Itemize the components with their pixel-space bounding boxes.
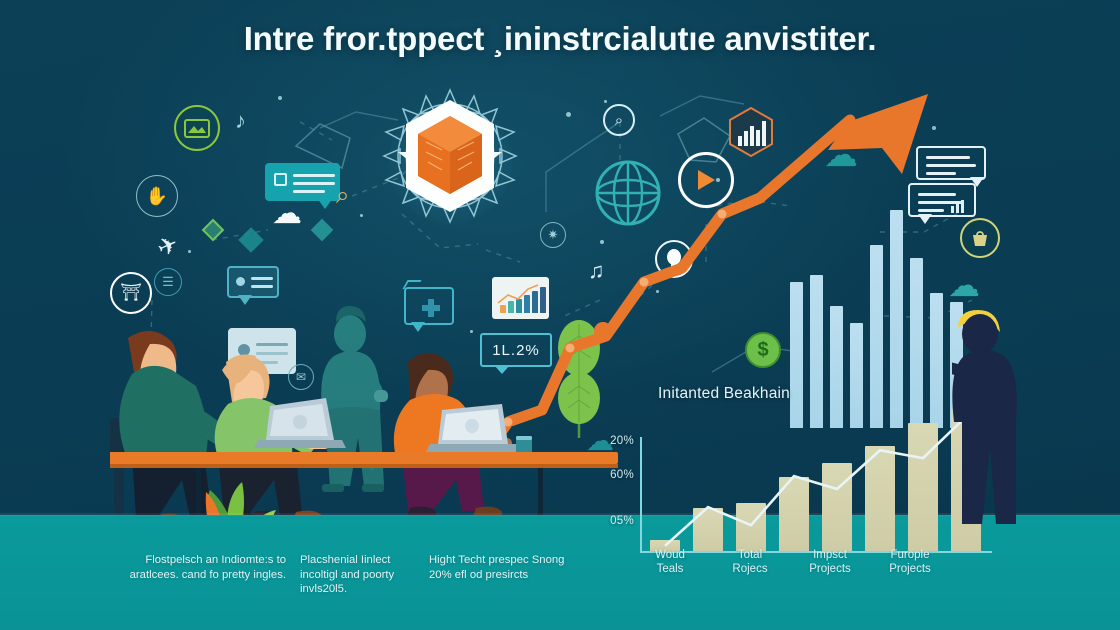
cloud-icon: ☁ <box>272 196 302 231</box>
infographic-canvas: Intre fror.tppect ¸ininstrcialutıe anvis… <box>0 0 1120 630</box>
category-label-line2: Projects <box>790 562 870 576</box>
y-tick-2: 05% <box>610 515 634 527</box>
standing-presenter-dark <box>952 306 1072 536</box>
zigzag-trend-line <box>640 405 1000 555</box>
search-icon: ⌕ <box>336 182 349 210</box>
caption-3: Hight Techt prespec Snong 20% efl od pre… <box>429 553 569 597</box>
caption-1: Flostpelsch an Indiomte:s to aratlcees. … <box>110 553 286 597</box>
inner-khaki-bar-chart: Initanted Beakhain 20% 60% 05% <box>600 385 1000 563</box>
music-note-icon: ♪ <box>235 108 246 134</box>
category-label: Total Rojecs <box>710 548 790 576</box>
category-label: Impsct Projects <box>790 548 870 576</box>
caption-2: Placshenial Iinlect incoltigl and poorty… <box>300 553 415 597</box>
category-label-line2: Projects <box>870 562 950 576</box>
category-label-line1: Furople <box>870 548 950 562</box>
image-folder-icon <box>174 105 220 151</box>
y-tick-1: 60% <box>610 469 634 481</box>
headline-title: Intre fror.tppect ¸ininstrcialutıe anvis… <box>0 20 1120 58</box>
category-label-line1: Impsct <box>790 548 870 562</box>
hand-gesture-icon: ✋ <box>136 175 178 217</box>
chat-bubble-outline-avatar <box>227 266 279 298</box>
category-label-line1: Woud <box>630 548 710 562</box>
panel-title: Initanted Beakhain <box>658 385 790 403</box>
category-label: Woud Teals <box>630 548 710 576</box>
y-tick-2-wrap: 05% <box>590 511 634 529</box>
category-label-line2: Rojecs <box>710 562 790 576</box>
y-tick-0: 20% <box>610 435 634 447</box>
category-label-line1: Total <box>710 548 790 562</box>
category-label: Furople Projects <box>870 548 950 576</box>
database-icon: ☰ <box>154 268 182 296</box>
category-labels-row: Woud Teals Total Rojecs Impsct Projects … <box>630 548 1030 576</box>
footer-captions: Flostpelsch an Indiomte:s to aratlcees. … <box>110 553 610 597</box>
y-tick-0-wrap: 20% <box>590 431 634 449</box>
y-tick-1-wrap: 60% <box>590 465 634 483</box>
category-label-line2: Teals <box>630 562 710 576</box>
